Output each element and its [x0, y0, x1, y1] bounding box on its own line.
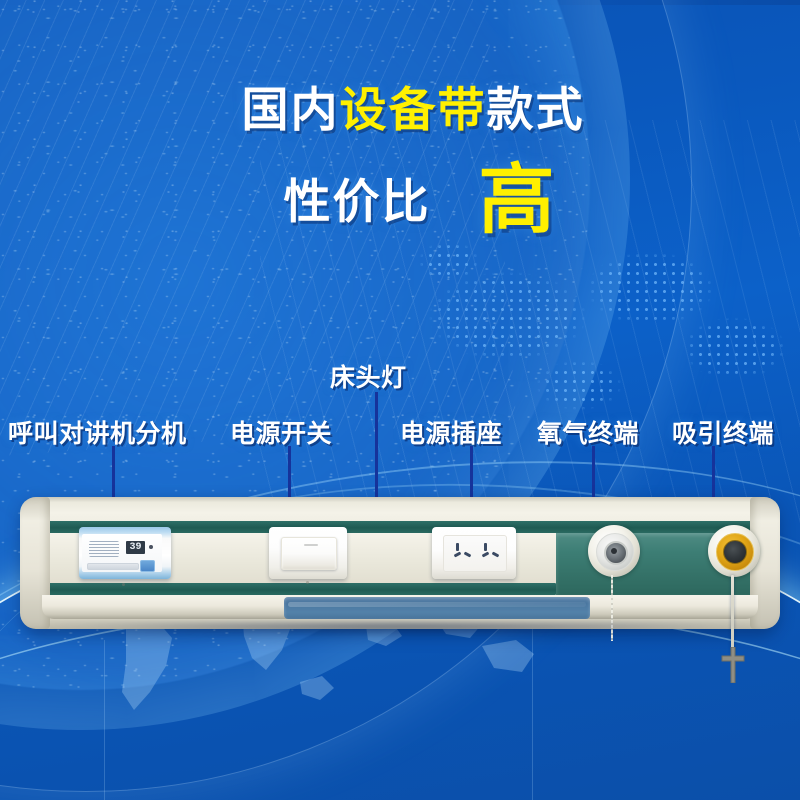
- intercom-call-button[interactable]: [140, 560, 155, 572]
- panel-drop-shadow: [48, 623, 752, 635]
- bed-lamp-power-switch[interactable]: [269, 527, 347, 579]
- product-banner: 国内设备带款式 性价比高 呼叫对讲机分机 电源开关 床头灯 电源插座 氧气终端 …: [0, 0, 800, 800]
- callout-label-bed-lamp: 床头灯: [330, 358, 407, 394]
- switch-mount-screw: [306, 581, 309, 584]
- status-led-icon: [149, 545, 153, 549]
- suction-hose-cable: [731, 575, 734, 657]
- bed-head-unit-panel: 39: [22, 497, 778, 629]
- callout-label-power-socket: 电源插座: [400, 414, 502, 450]
- callout-label-power-switch: 电源开关: [230, 414, 332, 450]
- switch-marking: [304, 544, 318, 546]
- suction-port-icon: [723, 540, 747, 564]
- socket-faceplate: [443, 535, 507, 572]
- panel-stripe-bottom: [44, 583, 556, 595]
- callout-label-intercom: 呼叫对讲机分机: [8, 414, 187, 450]
- intercom-mount-screw: [122, 583, 125, 586]
- switch-rocker[interactable]: [281, 537, 337, 570]
- oxygen-center-pin: [611, 548, 617, 554]
- oxygen-gas-terminal[interactable]: [588, 525, 640, 577]
- callout-label-oxygen-terminal: 氧气终端: [537, 414, 639, 450]
- panel-rail-blue-section: [284, 597, 590, 619]
- power-socket-outlet[interactable]: [432, 527, 516, 579]
- callout-layer: 呼叫对讲机分机 电源开关 床头灯 电源插座 氧气终端 吸引终端: [0, 0, 800, 800]
- speaker-grille-icon: [89, 541, 119, 557]
- hose-cross-connector-icon: [720, 647, 746, 683]
- intercom-display: 39: [126, 541, 145, 554]
- nurse-call-intercom-unit[interactable]: 39: [79, 527, 171, 579]
- callout-label-suction-terminal: 吸引终端: [672, 414, 774, 450]
- suction-gas-terminal[interactable]: [708, 525, 760, 577]
- intercom-card-slot: [87, 563, 139, 570]
